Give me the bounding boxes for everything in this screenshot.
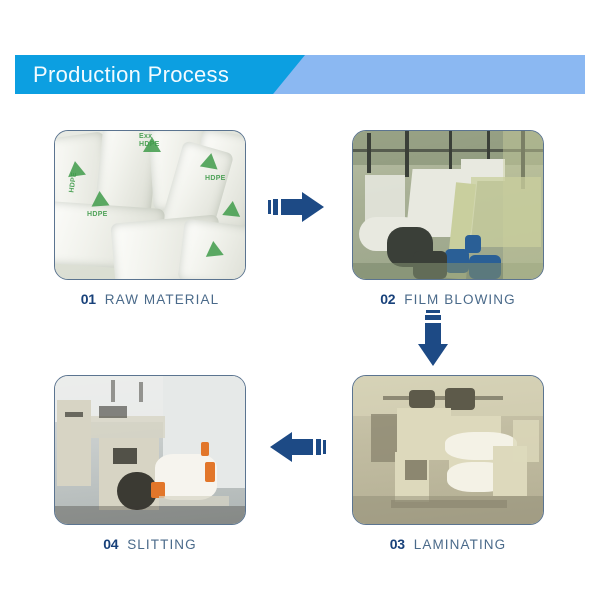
step-04-number: 04 <box>103 536 118 552</box>
step-02-number: 02 <box>380 291 395 307</box>
step-01-number: 01 <box>81 291 96 307</box>
page-title: Production Process <box>33 55 229 94</box>
film-blowing-image <box>353 131 543 279</box>
process-step-03: 03LAMINATING <box>352 375 544 552</box>
step-04-label: SLITTING <box>127 537 197 552</box>
step-01-caption: 01RAW MATERIAL <box>54 291 246 307</box>
step-01-photo: HDPE Exx HDPE HDPE HDPE <box>54 130 246 280</box>
process-step-04: 04SLITTING <box>54 375 246 552</box>
step-02-photo <box>352 130 544 280</box>
page-header-banner: Production Process <box>15 55 585 94</box>
step-02-caption: 02FILM BLOWING <box>352 291 544 307</box>
step-01-label: RAW MATERIAL <box>105 292 219 307</box>
step-03-caption: 03LAMINATING <box>352 536 544 552</box>
step-02-label: FILM BLOWING <box>404 292 515 307</box>
arrow-right-icon <box>268 188 326 226</box>
step-04-caption: 04SLITTING <box>54 536 246 552</box>
step-03-label: LAMINATING <box>414 537 507 552</box>
laminating-image <box>353 376 543 524</box>
step-03-photo <box>352 375 544 525</box>
arrow-left-icon <box>268 428 326 466</box>
process-step-01: HDPE Exx HDPE HDPE HDPE 01RAW MATERIAL <box>54 130 246 307</box>
slitting-image <box>55 376 245 524</box>
process-step-02: 02FILM BLOWING <box>352 130 544 307</box>
raw-material-image: HDPE Exx HDPE HDPE HDPE <box>55 131 245 279</box>
step-03-number: 03 <box>390 536 405 552</box>
arrow-down-icon <box>414 310 452 368</box>
step-04-photo <box>54 375 246 525</box>
